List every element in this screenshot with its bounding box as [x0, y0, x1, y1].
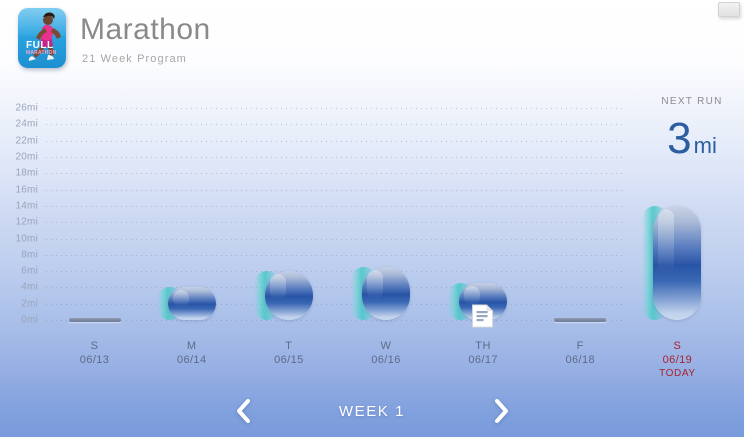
runner-figure-icon: FULL MARATHON	[18, 8, 66, 68]
day-label-06-13[interactable]: S06/13	[52, 340, 138, 366]
bar-gloss	[270, 274, 286, 300]
y-axis-tick-label: 10mi	[0, 233, 38, 244]
day-name: S	[634, 340, 720, 352]
day-date: 06/17	[440, 354, 526, 366]
mileage-bar[interactable]	[362, 267, 410, 320]
page-title: Marathon	[80, 14, 211, 46]
y-axis-tick-label: 24mi	[0, 119, 38, 130]
note-document-icon	[472, 304, 494, 328]
y-axis-tick-label: 26mi	[0, 103, 38, 114]
day-label-06-14[interactable]: M06/14	[149, 340, 235, 366]
day-date: 06/19	[634, 354, 720, 366]
y-axis-tick-label: 0mi	[0, 315, 38, 326]
week-label: WEEK 1	[332, 403, 412, 420]
week-navigation: WEEK 1	[0, 385, 744, 437]
y-axis-tick-label: 16mi	[0, 184, 38, 195]
bar-gloss	[173, 290, 189, 307]
y-axis-tick-label: 12mi	[0, 217, 38, 228]
mileage-bar[interactable]	[168, 287, 216, 320]
next-run-panel: NEXT RUN 3mi	[640, 96, 744, 161]
day-label-06-17[interactable]: TH06/17	[440, 340, 526, 366]
chart-bar-column[interactable]	[246, 96, 332, 336]
chart-bar-column[interactable]	[343, 96, 429, 336]
next-run-unit: mi	[694, 133, 717, 158]
y-axis-tick-label: 14mi	[0, 200, 38, 211]
today-badge: TODAY	[634, 368, 720, 379]
prev-week-chevron-icon[interactable]	[232, 397, 254, 425]
chart-bar-column[interactable]	[52, 96, 138, 336]
day-name: TH	[440, 340, 526, 352]
chart-bar-column[interactable]	[537, 96, 623, 336]
y-axis-tick-label: 4mi	[0, 282, 38, 293]
y-axis-tick-label: 6mi	[0, 266, 38, 277]
day-name: W	[343, 340, 429, 352]
day-date: 06/15	[246, 354, 332, 366]
next-run-label: NEXT RUN	[640, 96, 744, 107]
window-control-chip[interactable]	[718, 2, 740, 17]
chart-bar-column[interactable]	[149, 96, 235, 336]
day-date: 06/18	[537, 354, 623, 366]
day-name: S	[52, 340, 138, 352]
title-block: Marathon 21 Week Program	[80, 8, 211, 65]
bar-wrapper	[653, 206, 701, 320]
y-axis-tick-label: 22mi	[0, 135, 38, 146]
bar-wrapper	[362, 267, 410, 320]
day-date: 06/16	[343, 354, 429, 366]
bar-gloss	[464, 286, 480, 305]
bar-wrapper	[168, 287, 216, 320]
mileage-bar[interactable]	[265, 271, 313, 320]
y-axis-tick-label: 2mi	[0, 298, 38, 309]
day-name: M	[149, 340, 235, 352]
page-subtitle: 21 Week Program	[82, 53, 211, 65]
chevron-right-icon	[493, 399, 509, 423]
day-label-06-16[interactable]: W06/16	[343, 340, 429, 366]
y-axis-tick-label: 18mi	[0, 168, 38, 179]
workout-note-icon[interactable]	[472, 304, 494, 328]
rest-day-marker	[69, 318, 121, 322]
chart-bar-column[interactable]	[440, 96, 526, 336]
day-date: 06/14	[149, 354, 235, 366]
svg-text:MARATHON: MARATHON	[26, 50, 57, 56]
next-week-chevron-icon[interactable]	[490, 397, 512, 425]
day-name: T	[246, 340, 332, 352]
next-run-value: 3mi	[640, 117, 744, 161]
y-axis-tick-label: 20mi	[0, 152, 38, 163]
bar-gloss	[658, 209, 674, 274]
app-header: FULL MARATHON Marathon 21 Week Program	[18, 8, 211, 68]
x-axis-day-labels: S06/13M06/14T06/15W06/16TH06/17F06/18S06…	[46, 340, 726, 386]
day-label-06-19[interactable]: S06/19TODAY	[634, 340, 720, 379]
runner-app-icon[interactable]: FULL MARATHON	[18, 8, 66, 68]
day-name: F	[537, 340, 623, 352]
day-label-06-15[interactable]: T06/15	[246, 340, 332, 366]
y-axis-tick-label: 8mi	[0, 249, 38, 260]
chevron-left-icon	[235, 399, 251, 423]
next-run-distance: 3	[667, 114, 690, 163]
mileage-bar[interactable]	[653, 206, 701, 320]
day-date: 06/13	[52, 354, 138, 366]
bar-gloss	[367, 270, 383, 299]
weekly-mileage-chart: 0mi2mi4mi6mi8mi10mi12mi14mi16mi18mi20mi2…	[0, 96, 640, 336]
rest-day-marker	[554, 318, 606, 322]
day-label-06-18[interactable]: F06/18	[537, 340, 623, 366]
bar-wrapper	[265, 271, 313, 320]
chart-plot-area	[46, 96, 622, 336]
